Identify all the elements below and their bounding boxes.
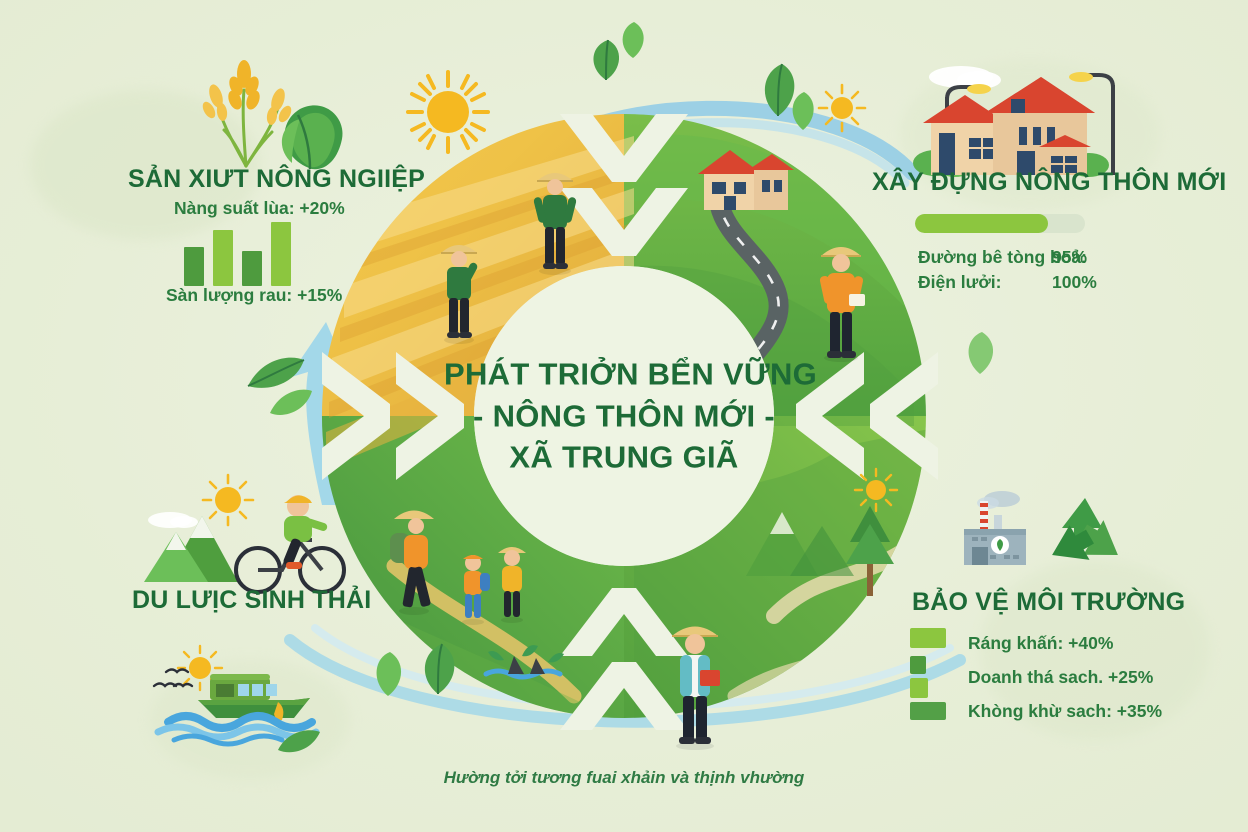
recycle-icon bbox=[1040, 492, 1130, 580]
legend-swatch-3 bbox=[910, 678, 928, 698]
section-title-agriculture: SẢN XIƯT NÔNG NGIIỆP bbox=[128, 165, 425, 194]
farmer-figure bbox=[525, 155, 585, 275]
agriculture-bar-chart bbox=[184, 222, 292, 286]
bicycle-rider-icon bbox=[140, 470, 370, 600]
legend-swatch-1 bbox=[910, 628, 946, 648]
bar-1 bbox=[184, 247, 204, 286]
agriculture-stat-rice: Nàng suất lùa: +20% bbox=[174, 198, 345, 219]
rural-stat-road-value: 95% bbox=[1052, 247, 1087, 268]
page-title: PHÁT TRIỞN BỂN VỮNG - NÔNG THÔN MỚI - XÃ… bbox=[444, 354, 804, 479]
sun-icon bbox=[848, 462, 904, 518]
leaf-icon bbox=[268, 385, 314, 419]
farmer-figure bbox=[430, 228, 488, 344]
rural-progress-bar bbox=[915, 214, 1085, 233]
leafy-greens-icon bbox=[266, 95, 356, 175]
child-figure bbox=[452, 545, 494, 625]
sun-icon bbox=[398, 62, 498, 162]
center-title-line2: - NÔNG THÔN MỚI - bbox=[444, 395, 804, 437]
section-title-tourism: DU LƯỊC SINH THẢI bbox=[132, 586, 371, 615]
infographic-poster: PHÁT TRIỞN BỂN VỮNG - NÔNG THÔN MỚI - XÃ… bbox=[0, 0, 1248, 832]
leaf-icon bbox=[786, 90, 820, 132]
rural-stat-power-value: 100% bbox=[1052, 272, 1097, 293]
bar-4 bbox=[271, 222, 291, 286]
rural-stat-power-label: Điện lưởi: bbox=[918, 272, 1001, 293]
villager-figure bbox=[810, 230, 872, 362]
environment-stat-1: Ráng khấń: +40% bbox=[968, 633, 1113, 654]
section-title-rural: XÂY ĐỰNG NÔNG THÔN MỚI bbox=[872, 168, 1226, 197]
environment-legend bbox=[910, 628, 966, 720]
bar-2 bbox=[213, 230, 233, 286]
agriculture-stat-vegetables: Sàn lượng rau: +15% bbox=[166, 285, 342, 306]
leaf-icon bbox=[414, 642, 462, 696]
engineer-figure bbox=[660, 610, 730, 750]
house-icon bbox=[893, 55, 1183, 180]
environment-stat-3: Khòng khừ sach: +35% bbox=[968, 701, 1162, 722]
legend-swatch-4 bbox=[910, 702, 946, 720]
house-in-ring-icon bbox=[690, 140, 800, 220]
section-title-environment: BẢO VỆ MÔI TRƯỜNG bbox=[912, 588, 1185, 617]
center-title-line3: XÃ TRUNG GIÃ bbox=[444, 437, 804, 479]
hiker-figure bbox=[382, 495, 446, 615]
legend-swatch-2 bbox=[910, 656, 926, 674]
child-figure bbox=[490, 535, 534, 623]
leaf-icon bbox=[960, 330, 1000, 376]
factory-icon bbox=[958, 487, 1038, 567]
boat-icon bbox=[140, 640, 360, 750]
center-title-line1: PHÁT TRIỞN BỂN VỮNG bbox=[444, 354, 804, 396]
rural-progress-fill bbox=[915, 214, 1048, 233]
environment-stat-2: Doanh thá sach. +25% bbox=[968, 667, 1153, 688]
footer-caption: Hường tởi tương fuai xhảin và thịnh vhườ… bbox=[0, 768, 1248, 788]
mangrove-icon bbox=[478, 630, 568, 690]
leaf-icon bbox=[276, 726, 322, 756]
leaf-icon bbox=[616, 20, 650, 60]
leaf-icon bbox=[368, 650, 408, 698]
sun-icon bbox=[812, 78, 872, 138]
bar-3 bbox=[242, 251, 262, 286]
